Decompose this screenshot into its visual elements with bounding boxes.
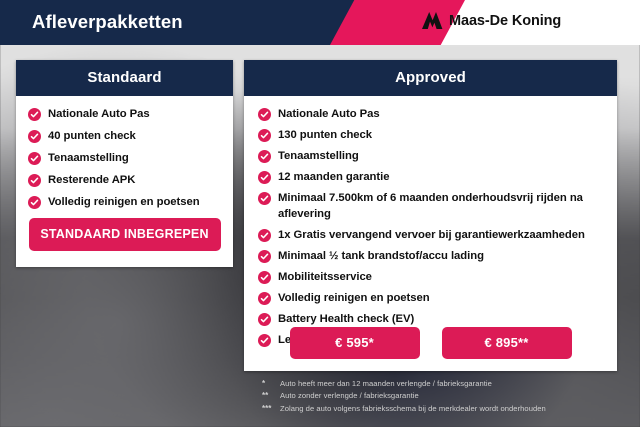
brand-lockup: Maas-De Koning <box>421 11 561 30</box>
feature-label: 12 maanden garantie <box>278 169 389 185</box>
feature-label: Resterende APK <box>48 172 135 188</box>
footnotes: * Auto heeft meer dan 12 maanden verleng… <box>262 379 632 416</box>
footnote-text: Zolang de auto volgens fabrieksschema bi… <box>280 404 546 414</box>
check-circle-icon <box>258 250 271 263</box>
feature-label: Tenaamstelling <box>48 150 129 166</box>
list-item: Nationale Auto Pas <box>258 106 603 122</box>
card-standaard-feature-list: Nationale Auto Pas 40 punten check Tenaa… <box>16 96 233 210</box>
check-circle-icon <box>258 229 271 242</box>
feature-label: Mobiliteitsservice <box>278 269 372 285</box>
feature-label: 130 punten check <box>278 127 372 143</box>
standaard-button-row: STANDAARD INBEGREPEN <box>16 218 233 251</box>
feature-label: Volledig reinigen en poetsen <box>48 194 200 210</box>
check-circle-icon <box>28 174 41 187</box>
check-circle-icon <box>258 192 271 205</box>
check-circle-icon <box>258 171 271 184</box>
price-button-895[interactable]: € 895** <box>442 327 572 359</box>
brand-name: Maas-De Koning <box>449 13 561 29</box>
list-item: 1x Gratis vervangend vervoer bij garanti… <box>258 227 603 243</box>
check-circle-icon <box>28 196 41 209</box>
list-item: 130 punten check <box>258 127 603 143</box>
price-button-row: € 595* € 895** <box>244 327 617 359</box>
footnote-row: *** Zolang de auto volgens fabrieksschem… <box>262 404 632 414</box>
check-circle-icon <box>258 313 271 326</box>
feature-label: Nationale Auto Pas <box>278 106 380 122</box>
feature-label: Minimaal 7.500km of 6 maanden onderhouds… <box>278 190 603 222</box>
check-circle-icon <box>258 150 271 163</box>
feature-label: Tenaamstelling <box>278 148 359 164</box>
list-item: 40 punten check <box>28 128 221 144</box>
list-item: Minimaal ½ tank brandstof/accu lading <box>258 248 603 264</box>
footnote-marker: *** <box>262 404 276 414</box>
check-circle-icon <box>258 271 271 284</box>
check-circle-icon <box>258 129 271 142</box>
feature-label: Nationale Auto Pas <box>48 106 150 122</box>
check-circle-icon <box>258 108 271 121</box>
feature-label: Battery Health check (EV) <box>278 311 414 327</box>
list-item: 12 maanden garantie <box>258 169 603 185</box>
footnote-row: * Auto heeft meer dan 12 maanden verleng… <box>262 379 632 389</box>
footnote-marker: * <box>262 379 276 389</box>
list-item: Volledig reinigen en poetsen <box>28 194 221 210</box>
price-button-595[interactable]: € 595* <box>290 327 420 359</box>
list-item: Resterende APK <box>28 172 221 188</box>
check-circle-icon <box>28 108 41 121</box>
feature-label: Minimaal ½ tank brandstof/accu lading <box>278 248 484 264</box>
maas-de-koning-m-logo-icon <box>421 11 443 30</box>
list-item: Mobiliteitsservice <box>258 269 603 285</box>
card-approved: Approved Nationale Auto Pas 130 punten c… <box>244 60 617 371</box>
feature-label: Volledig reinigen en poetsen <box>278 290 430 306</box>
footnote-marker: ** <box>262 391 276 401</box>
card-approved-title: Approved <box>244 60 617 96</box>
check-circle-icon <box>28 152 41 165</box>
card-approved-feature-list: Nationale Auto Pas 130 punten check Tena… <box>244 96 617 348</box>
check-circle-icon <box>28 130 41 143</box>
list-item: Battery Health check (EV) <box>258 311 603 327</box>
list-item: Tenaamstelling <box>28 150 221 166</box>
page-header: Afleverpakketten Maas-De Koning <box>0 0 640 45</box>
list-item: Tenaamstelling <box>258 148 603 164</box>
list-item: Volledig reinigen en poetsen <box>258 290 603 306</box>
list-item: Minimaal 7.500km of 6 maanden onderhouds… <box>258 190 603 222</box>
afleverpakketten-promo-page: Afleverpakketten Maas-De Koning Standaar… <box>0 0 640 427</box>
footnote-row: ** Auto zonder verlengde / fabrieksgaran… <box>262 391 632 401</box>
page-title: Afleverpakketten <box>32 11 183 33</box>
check-circle-icon <box>258 292 271 305</box>
feature-label: 1x Gratis vervangend vervoer bij garanti… <box>278 227 585 243</box>
card-standaard: Standaard Nationale Auto Pas 40 punten c… <box>16 60 233 267</box>
card-standaard-title: Standaard <box>16 60 233 96</box>
feature-label: 40 punten check <box>48 128 136 144</box>
list-item: Nationale Auto Pas <box>28 106 221 122</box>
footnote-text: Auto zonder verlengde / fabrieksgarantie <box>280 391 419 401</box>
standaard-inbegrepen-button[interactable]: STANDAARD INBEGREPEN <box>29 218 221 251</box>
footnote-text: Auto heeft meer dan 12 maanden verlengde… <box>280 379 492 389</box>
